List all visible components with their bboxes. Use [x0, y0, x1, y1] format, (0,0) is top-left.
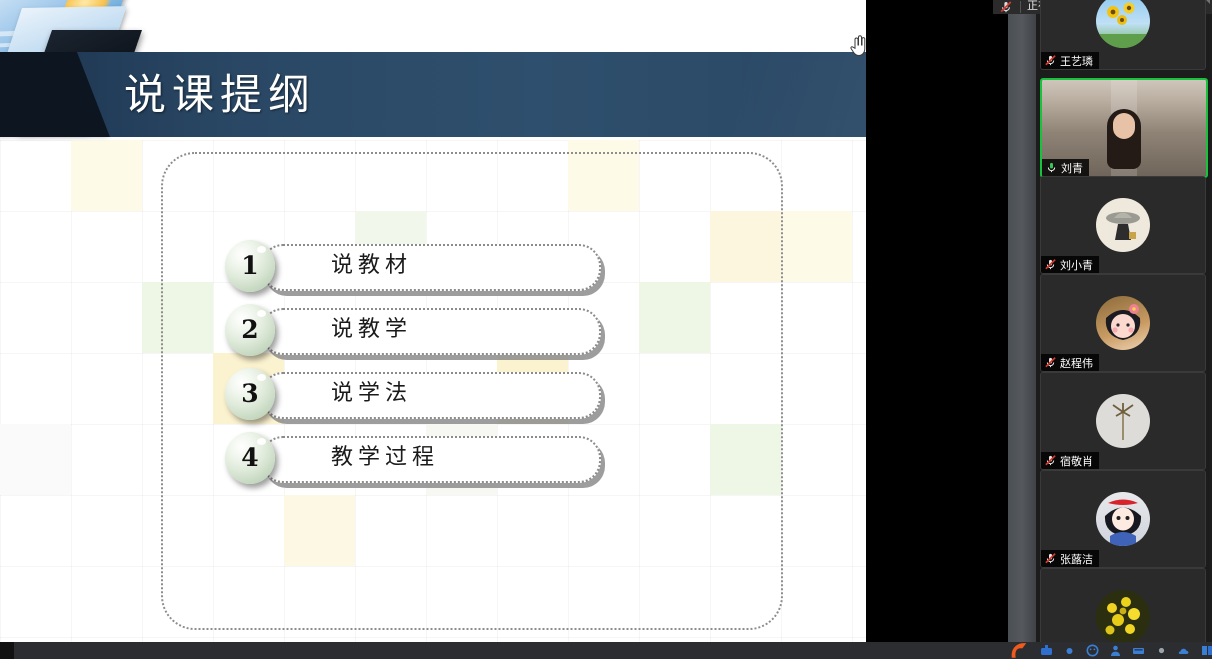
participant-tile[interactable]: 宿敬肖: [1040, 372, 1206, 470]
participant-tile[interactable]: 赵程伟: [1040, 274, 1206, 372]
agenda-label: 说教材: [331, 246, 412, 286]
participant-name-badge: 王艺璘: [1041, 52, 1099, 69]
keyboard-icon[interactable]: [1132, 644, 1145, 657]
agenda-number: 1: [225, 240, 275, 292]
participant-tile[interactable]: 张蕗洁: [1040, 470, 1206, 568]
agenda-number-bubble: 1: [225, 240, 275, 292]
muted-mic-icon: [1044, 258, 1057, 271]
bubble-highlight-icon: [257, 310, 266, 317]
list-item[interactable]: 4教学过程: [225, 432, 605, 496]
agenda-label: 说教学: [331, 310, 412, 350]
avatar: [1096, 394, 1150, 448]
participant-tile[interactable]: 刘小青: [1040, 176, 1206, 274]
muted-mic-icon: [1044, 552, 1057, 565]
participant-name: 赵程伟: [1060, 355, 1093, 371]
agenda-pill: [261, 308, 601, 355]
window-icon[interactable]: [1201, 644, 1212, 657]
agenda-pill: [261, 372, 601, 419]
taskbar-start-area[interactable]: [0, 642, 14, 659]
agenda-number: 4: [225, 432, 275, 484]
participant-name: 刘青: [1061, 160, 1083, 176]
person-icon[interactable]: [1109, 644, 1122, 657]
bubble-highlight-icon: [257, 246, 266, 253]
agenda-number: 2: [225, 304, 275, 356]
agenda-number-bubble: 3: [225, 368, 275, 420]
participant-name: 宿敬肖: [1060, 453, 1093, 469]
background-tile: [0, 424, 71, 495]
sidebar-scrollbar[interactable]: [1008, 0, 1036, 659]
smiley-app-icon[interactable]: [1086, 644, 1099, 657]
background-tile: [71, 140, 142, 211]
os-taskbar[interactable]: [0, 642, 1212, 659]
bubble-highlight-icon: [257, 438, 266, 445]
agenda-label: 说学法: [331, 374, 412, 414]
participant-tile[interactable]: 王艺璘: [1040, 0, 1206, 70]
agenda-number-bubble: 4: [225, 432, 275, 484]
muted-mic-icon: [1044, 454, 1057, 467]
agenda-number: 3: [225, 368, 275, 420]
participant-name-badge: 宿敬肖: [1041, 452, 1099, 469]
app-small-icon[interactable]: [1063, 644, 1076, 657]
participant-tile-list: 王艺璘刘青刘小青赵程伟宿敬肖张蕗洁吴静华: [1036, 0, 1212, 645]
participant-tile[interactable]: 吴静华: [1040, 568, 1206, 645]
muted-mic-icon: [1044, 356, 1057, 369]
browser-icon[interactable]: [1040, 644, 1053, 657]
bubble-highlight-icon: [257, 374, 266, 381]
participant-name-badge: 刘小青: [1041, 256, 1099, 273]
muted-mic-icon: [1044, 54, 1057, 67]
pointer-hand-cursor: [849, 35, 866, 57]
avatar: [1096, 590, 1150, 644]
sogou-logo-icon[interactable]: [1008, 642, 1030, 659]
agenda-pill: [261, 244, 601, 291]
participant-name: 王艺璘: [1060, 53, 1093, 69]
screen: 3% +12 2 说课提纲 1说教材2说教学3说学法4教学过程: [0, 0, 1212, 659]
participant-name: 张蕗洁: [1060, 551, 1093, 567]
participant-name-badge: 张蕗洁: [1041, 550, 1099, 567]
avatar: [1096, 198, 1150, 252]
participant-name-badge: 刘青: [1042, 159, 1089, 176]
list-item[interactable]: 3说学法: [225, 368, 605, 432]
participant-name-badge: 赵程伟: [1041, 354, 1099, 371]
cloud-icon[interactable]: [1178, 644, 1191, 657]
letterbox-area: [866, 0, 1008, 642]
agenda-number-bubble: 2: [225, 304, 275, 356]
avatar: [1096, 296, 1150, 350]
taskbar-icon-group[interactable]: [1016, 642, 1212, 659]
list-item[interactable]: 2说教学: [225, 304, 605, 368]
avatar: [1096, 0, 1150, 48]
shared-slide[interactable]: 3% +12 2 说课提纲 1说教材2说教学3说学法4教学过程: [0, 0, 866, 642]
participant-tile[interactable]: 刘青: [1040, 78, 1208, 178]
active-mic-icon: [1045, 161, 1058, 174]
avatar: [1096, 492, 1150, 546]
agenda-list: 1说教材2说教学3说学法4教学过程: [225, 240, 605, 496]
participant-name: 刘小青: [1060, 257, 1093, 273]
muted-mic-icon: [999, 0, 1013, 14]
status-dot-icon[interactable]: [1155, 644, 1168, 657]
background-tile: [781, 211, 852, 282]
agenda-label: 教学过程: [331, 438, 439, 478]
page-title: 说课提纲: [124, 62, 624, 128]
list-item[interactable]: 1说教材: [225, 240, 605, 304]
